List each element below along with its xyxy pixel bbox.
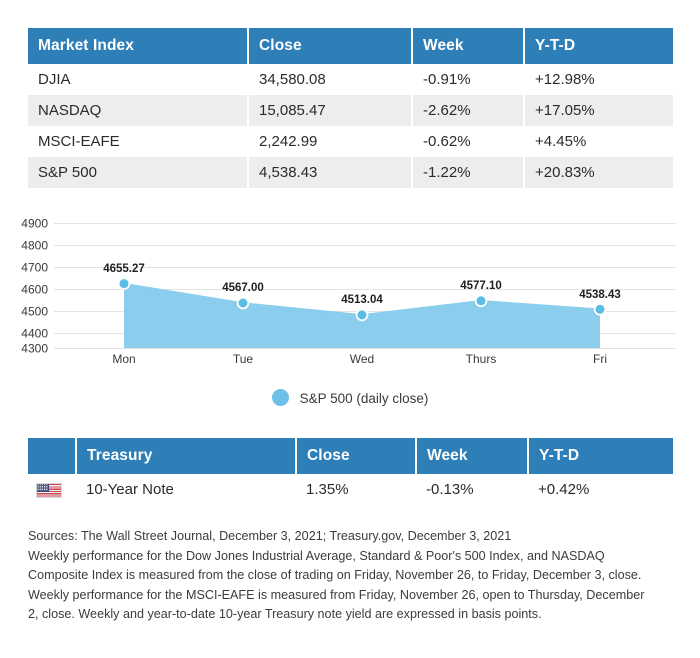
note-line: Composite Index is measured from the clo… [28,566,676,586]
data-point-label: 4577.10 [460,280,502,292]
market-index-table: Market Index Close Week Y-T-D DJIA 34,58… [28,28,673,188]
data-point-marker [238,298,249,309]
cell-index-name: MSCI-EAFE [28,126,248,157]
y-tick-label: 4700 [21,261,48,275]
data-point-marker [595,304,606,315]
column-header-ytd: Y-T-D [528,438,673,474]
data-point-marker [476,295,487,306]
column-header-market-index: Market Index [28,28,248,64]
cell-treasury-week: -0.13% [416,474,528,505]
table-row: 10-Year Note 1.35% -0.13% +0.42% [28,474,673,505]
treasury-table-head: Treasury Close Week Y-T-D [28,438,673,474]
table-row: DJIA 34,580.08 -0.91% +12.98% [28,64,673,95]
cell-index-week: -0.91% [412,64,524,95]
note-line: Weekly performance for the MSCI-EAFE is … [28,586,676,606]
treasury-table-body: 10-Year Note 1.35% -0.13% +0.42% [28,474,673,505]
y-tick-label: 4600 [21,283,48,297]
column-header-treasury: Treasury [76,438,296,474]
note-line: Weekly performance for the Dow Jones Ind… [28,547,676,567]
cell-index-name: NASDAQ [28,95,248,126]
cell-index-name: S&P 500 [28,157,248,188]
cell-index-name: DJIA [28,64,248,95]
cell-index-close: 2,242.99 [248,126,412,157]
source-notes: Sources: The Wall Street Journal, Decemb… [28,527,676,625]
chart-y-axis: 4900 4800 4700 4600 4500 4400 4300 [21,217,48,356]
cell-treasury-ytd: +0.42% [528,474,673,505]
data-point-label: 4567.00 [222,282,264,294]
y-tick-label: 4300 [21,342,48,356]
table-header-row: Market Index Close Week Y-T-D [28,28,673,64]
data-point-label: 4538.43 [579,289,621,301]
cell-index-week: -2.62% [412,95,524,126]
cell-treasury-close: 1.35% [296,474,416,505]
column-header-week: Week [412,28,524,64]
y-tick-label: 4900 [21,217,48,231]
y-tick-label: 4500 [21,305,48,319]
cell-index-close: 34,580.08 [248,64,412,95]
x-tick-label: Thurs [466,352,497,366]
table-row: MSCI-EAFE 2,242.99 -0.62% +4.45% [28,126,673,157]
cell-index-week: -1.22% [412,157,524,188]
chart-x-axis: Mon Tue Wed Thurs Fri [112,352,607,366]
cell-index-ytd: +4.45% [524,126,673,157]
note-line: 2, close. Weekly and year-to-date 10-yea… [28,605,676,625]
data-point-marker [357,310,368,321]
table-header-row: Treasury Close Week Y-T-D [28,438,673,474]
column-header-week: Week [416,438,528,474]
table-row: S&P 500 4,538.43 -1.22% +20.83% [28,157,673,188]
market-index-table-body: DJIA 34,580.08 -0.91% +12.98% NASDAQ 15,… [28,64,673,188]
cell-treasury-name: 10-Year Note [76,474,296,505]
column-header-ytd: Y-T-D [524,28,673,64]
market-index-table-head: Market Index Close Week Y-T-D [28,28,673,64]
cell-flag [28,474,76,505]
column-header-flag [28,438,76,474]
data-point-label: 4513.04 [341,294,383,306]
cell-index-close: 4,538.43 [248,157,412,188]
us-flag-icon [36,483,62,498]
x-tick-label: Mon [112,352,135,366]
sp500-area-chart: 4900 4800 4700 4600 4500 4400 4300 4655.… [0,206,700,416]
table-row: NASDAQ 15,085.47 -2.62% +17.05% [28,95,673,126]
cell-index-close: 15,085.47 [248,95,412,126]
x-tick-label: Wed [350,352,374,366]
note-line: Sources: The Wall Street Journal, Decemb… [28,527,676,547]
chart-svg: 4900 4800 4700 4600 4500 4400 4300 4655.… [0,206,700,381]
cell-index-ytd: +17.05% [524,95,673,126]
column-header-close: Close [296,438,416,474]
cell-index-ytd: +12.98% [524,64,673,95]
legend-swatch-icon [272,389,289,406]
cell-index-ytd: +20.83% [524,157,673,188]
data-point-marker [119,278,130,289]
y-tick-label: 4400 [21,327,48,341]
market-summary-page: Market Index Close Week Y-T-D DJIA 34,58… [0,0,700,658]
legend-label: S&P 500 (daily close) [300,391,429,406]
flag-stars [37,484,48,491]
cell-index-week: -0.62% [412,126,524,157]
data-point-label: 4655.27 [103,263,145,275]
x-tick-label: Tue [233,352,254,366]
x-tick-label: Fri [593,352,607,366]
column-header-close: Close [248,28,412,64]
y-tick-label: 4800 [21,239,48,253]
treasury-table: Treasury Close Week Y-T-D 10-Year Note 1… [28,438,673,505]
chart-legend: S&P 500 (daily close) [0,389,700,406]
